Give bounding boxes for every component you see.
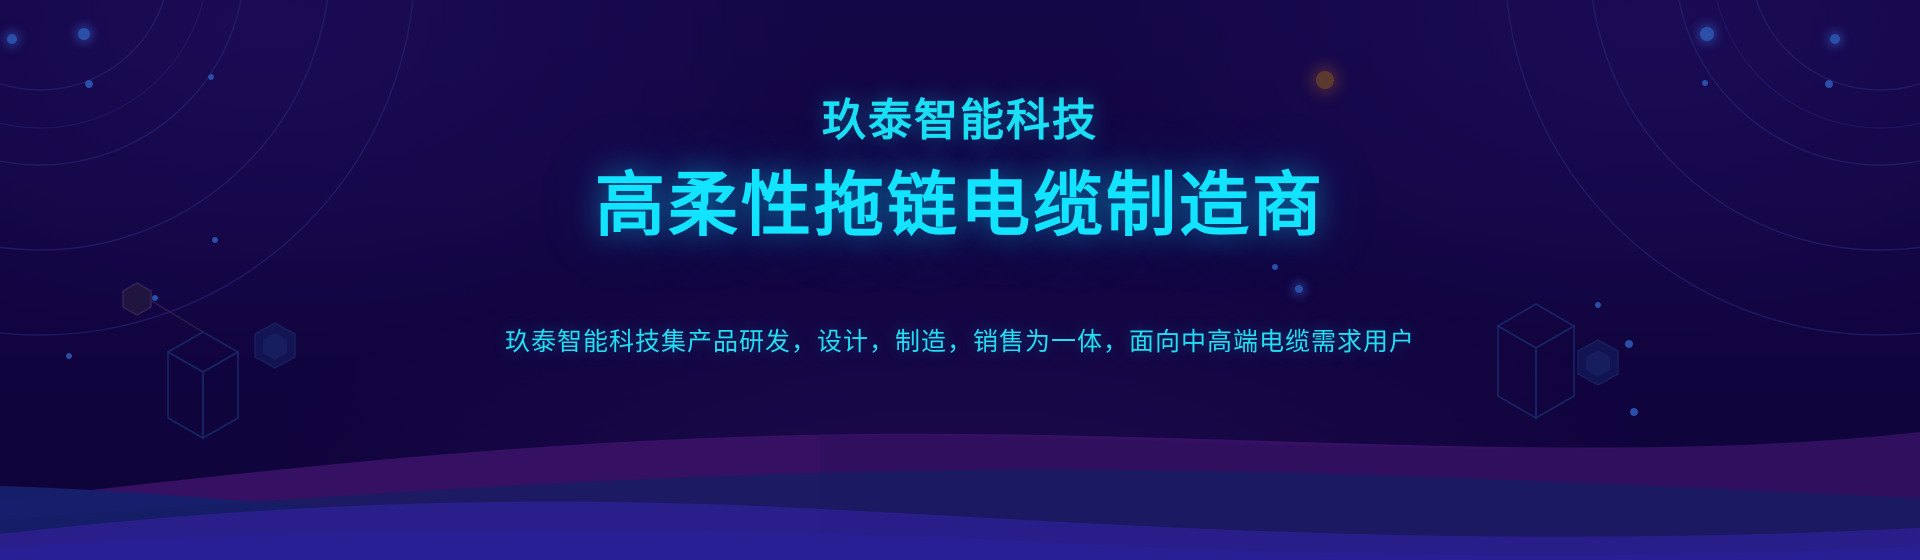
- company-name: 玖泰智能科技: [822, 98, 1098, 144]
- banner-content: 玖泰智能科技 高柔性拖链电缆制造商 玖泰智能科技集产品研发，设计，制造，销售为一…: [0, 0, 1920, 560]
- page-title: 高柔性拖链电缆制造商: [595, 168, 1325, 244]
- banner-subtitle: 玖泰智能科技集产品研发，设计，制造，销售为一体，面向中高端电缆需求用户: [505, 325, 1415, 360]
- hero-banner: 玖泰智能科技 高柔性拖链电缆制造商 玖泰智能科技集产品研发，设计，制造，销售为一…: [0, 0, 1920, 560]
